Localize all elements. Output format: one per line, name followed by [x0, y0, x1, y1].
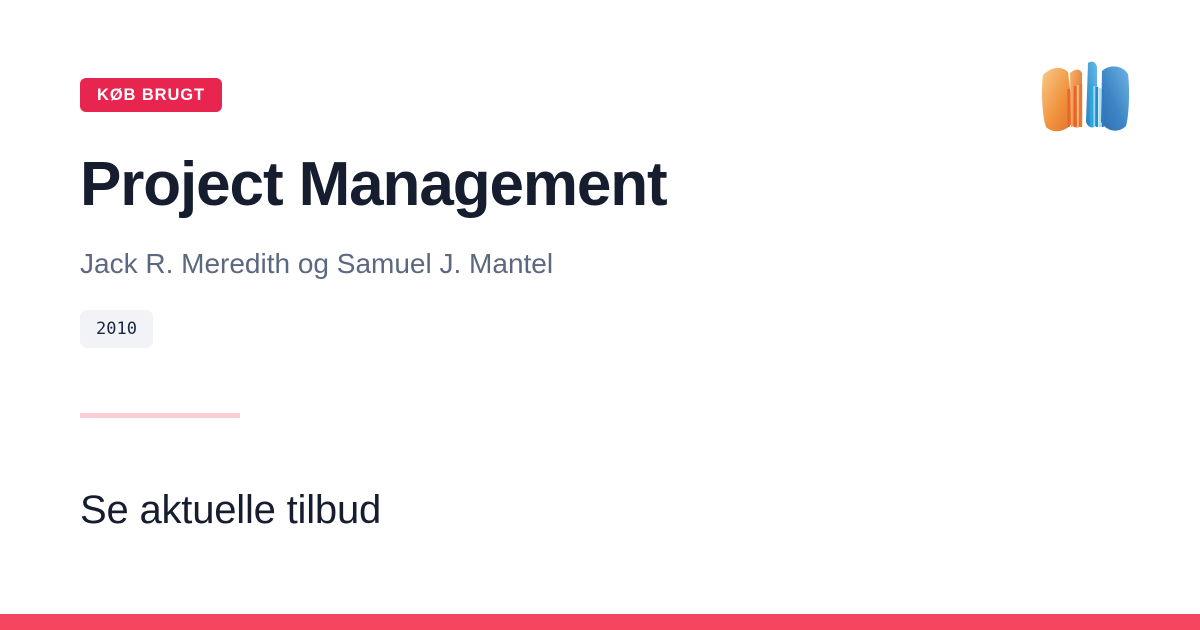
- open-book-logo: [1040, 55, 1132, 151]
- share-card: KØB BRUGT Project Management Jack R. Mer…: [0, 0, 1200, 630]
- cta-see-current-offers[interactable]: Se aktuelle tilbud: [80, 486, 381, 534]
- logo-mark: [1042, 62, 1129, 132]
- divider: [80, 413, 240, 418]
- page-title: Project Management: [80, 152, 667, 218]
- publication-year-chip: 2010: [80, 310, 153, 348]
- book-authors: Jack R. Meredith og Samuel J. Mantel: [80, 246, 553, 281]
- bottom-accent-bar: [0, 614, 1200, 630]
- status-badge: KØB BRUGT: [80, 78, 222, 112]
